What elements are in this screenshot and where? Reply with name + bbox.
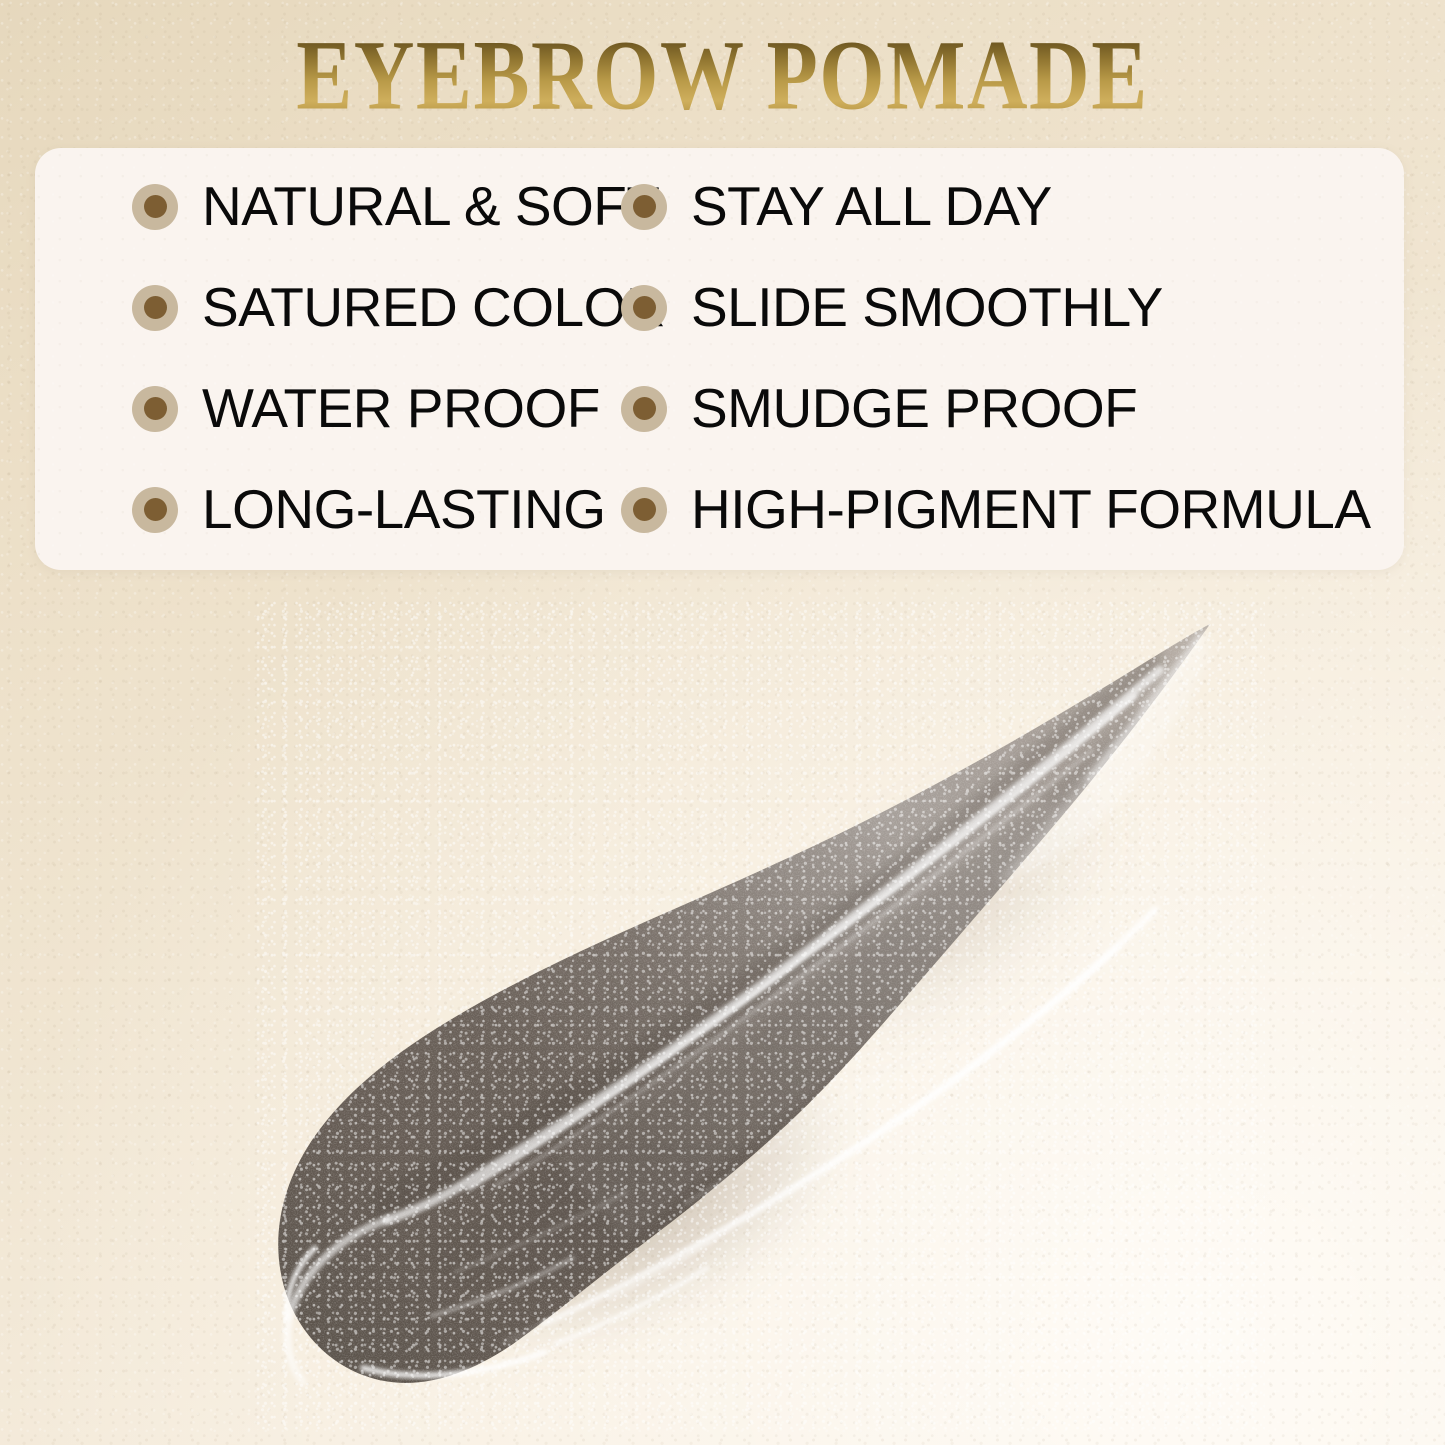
bullet-dot-icon bbox=[621, 487, 667, 533]
product-marketing-image: EYEBROW POMADE NATURAL & SOFT STAY ALL D… bbox=[0, 0, 1445, 1445]
pomade-swatch-stage bbox=[255, 600, 1265, 1430]
feature-item-water-proof: WATER PROOF bbox=[35, 358, 608, 459]
feature-label: WATER PROOF bbox=[202, 381, 600, 436]
feature-label: HIGH-PIGMENT FORMULA bbox=[691, 482, 1371, 537]
bullet-dot-icon bbox=[132, 285, 178, 331]
feature-item-slide-smoothly: SLIDE SMOOTHLY bbox=[608, 257, 1404, 358]
feature-list-card: NATURAL & SOFT STAY ALL DAY SATURED COLO… bbox=[35, 148, 1404, 570]
feature-label: NATURAL & SOFT bbox=[202, 179, 660, 234]
feature-item-natural-soft: NATURAL & SOFT bbox=[35, 156, 608, 257]
pomade-swatch bbox=[255, 600, 1265, 1430]
bullet-dot-icon bbox=[621, 285, 667, 331]
page-title: EYEBROW POMADE bbox=[0, 26, 1445, 127]
feature-item-smudge-proof: SMUDGE PROOF bbox=[608, 358, 1404, 459]
bullet-dot-icon bbox=[132, 487, 178, 533]
feature-label: SLIDE SMOOTHLY bbox=[691, 280, 1163, 335]
feature-item-high-pigment-formula: HIGH-PIGMENT FORMULA bbox=[608, 459, 1404, 560]
bullet-dot-icon bbox=[132, 386, 178, 432]
feature-item-long-lasting: LONG-LASTING bbox=[35, 459, 608, 560]
swatch-shimmer-overlay bbox=[255, 600, 1265, 1430]
feature-item-stay-all-day: STAY ALL DAY bbox=[608, 156, 1404, 257]
feature-label: SMUDGE PROOF bbox=[691, 381, 1137, 436]
feature-label: SATURED COLOR bbox=[202, 280, 665, 335]
feature-grid: NATURAL & SOFT STAY ALL DAY SATURED COLO… bbox=[35, 148, 1404, 570]
feature-label: STAY ALL DAY bbox=[691, 179, 1052, 234]
bullet-dot-icon bbox=[621, 184, 667, 230]
feature-label: LONG-LASTING bbox=[202, 482, 606, 537]
feature-item-satured-color: SATURED COLOR bbox=[35, 257, 608, 358]
bullet-dot-icon bbox=[621, 386, 667, 432]
bullet-dot-icon bbox=[132, 184, 178, 230]
